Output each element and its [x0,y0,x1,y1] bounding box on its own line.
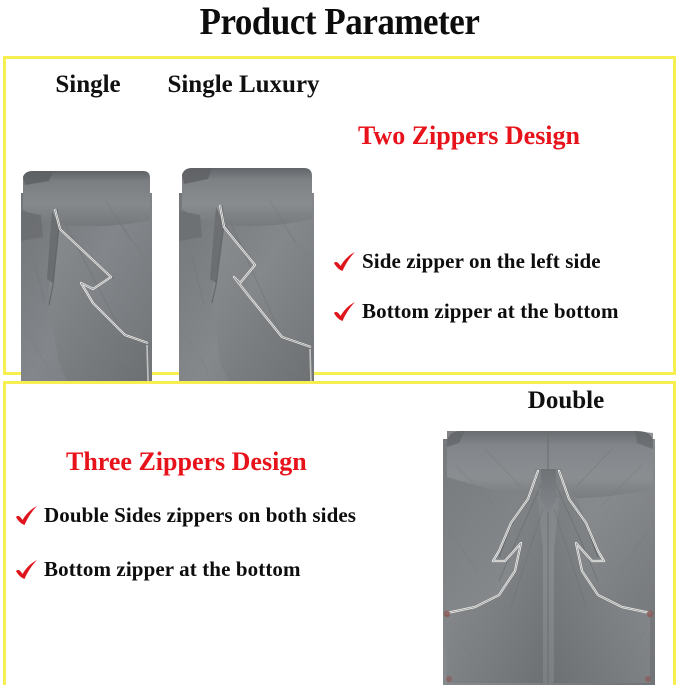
bullet-label: Side zipper on the left side [362,249,601,274]
heading-three-zippers-design: Three Zippers Design [66,447,307,477]
bullet-label: Bottom zipper at the bottom [362,299,619,324]
product-photo-double [425,421,672,685]
heading-two-zippers-design: Two Zippers Design [358,121,580,151]
bullet-double-sides-zippers: Double Sides zippers on both sides [14,503,356,528]
bullet-side-zipper: Side zipper on the left side [332,249,601,274]
bullet-bottom-zipper-double: Bottom zipper at the bottom [14,557,301,582]
check-icon [14,559,39,583]
page-title: Product Parameter [27,0,652,48]
panel-two-zippers: Single Single Luxury [3,56,676,375]
bullet-label: Double Sides zippers on both sides [44,503,356,528]
double-liner-illustration [425,421,672,685]
check-icon [332,301,357,325]
product-label-single: Single [18,71,158,99]
product-label-single-luxury: Single Luxury [156,71,331,99]
product-label-double: Double [466,387,666,415]
bullet-label: Bottom zipper at the bottom [44,557,301,582]
bullet-bottom-zipper: Bottom zipper at the bottom [332,299,619,324]
check-icon [14,505,39,529]
check-icon [332,251,357,275]
